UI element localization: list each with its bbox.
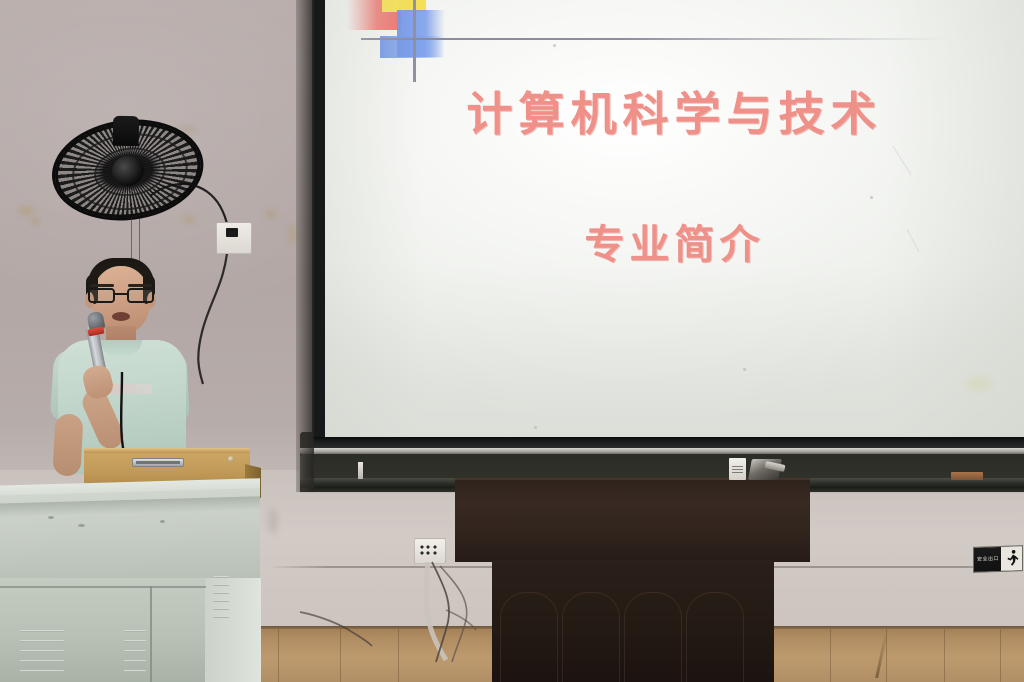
cabinet-body-right [205,578,261,682]
photo-scene: 计算机科学与技术 专业简介 安全出口 [0,0,1024,682]
cabinet-side-louver [213,616,229,618]
podium-panel-arch [624,592,682,682]
podium-desk-front [455,480,810,562]
lectern-screw [228,456,234,462]
cabinet-vent-louver [20,670,64,672]
cabinet-vent-louver [20,630,64,632]
cabinet-side-louver [213,592,229,594]
cabinet-vent-louver [124,640,146,642]
cabinet-door-seam [150,586,152,682]
cabinet-mark [78,524,85,527]
podium-panel-arch [686,592,744,682]
cabinet-vent-louver [124,630,146,632]
cabinet-mark [160,520,165,523]
cabinet-side-louver [213,600,229,602]
lectern-top-edge [84,448,250,453]
cabinet-vent-louver [124,650,146,652]
cabinet-side-louver [213,608,229,610]
cabinet-side-louver [213,576,229,578]
cabinet-vent-louver [124,660,146,662]
screen-left-shadow [296,0,314,492]
cabinet-vent-louver [20,660,64,662]
podium-panel-arch [500,592,558,682]
cabinet-vent-louver [20,640,64,642]
cabinet-vent-louver [20,650,64,652]
cabinet-mark [48,516,54,519]
lectern-handle-slot [136,461,180,464]
podium-paper-lines [732,466,743,474]
cabinet-vent-louver [124,670,146,672]
cabinet-door-seam-top [0,586,206,588]
podium-panel-arch [562,592,620,682]
cabinet-side-louver [213,584,229,586]
